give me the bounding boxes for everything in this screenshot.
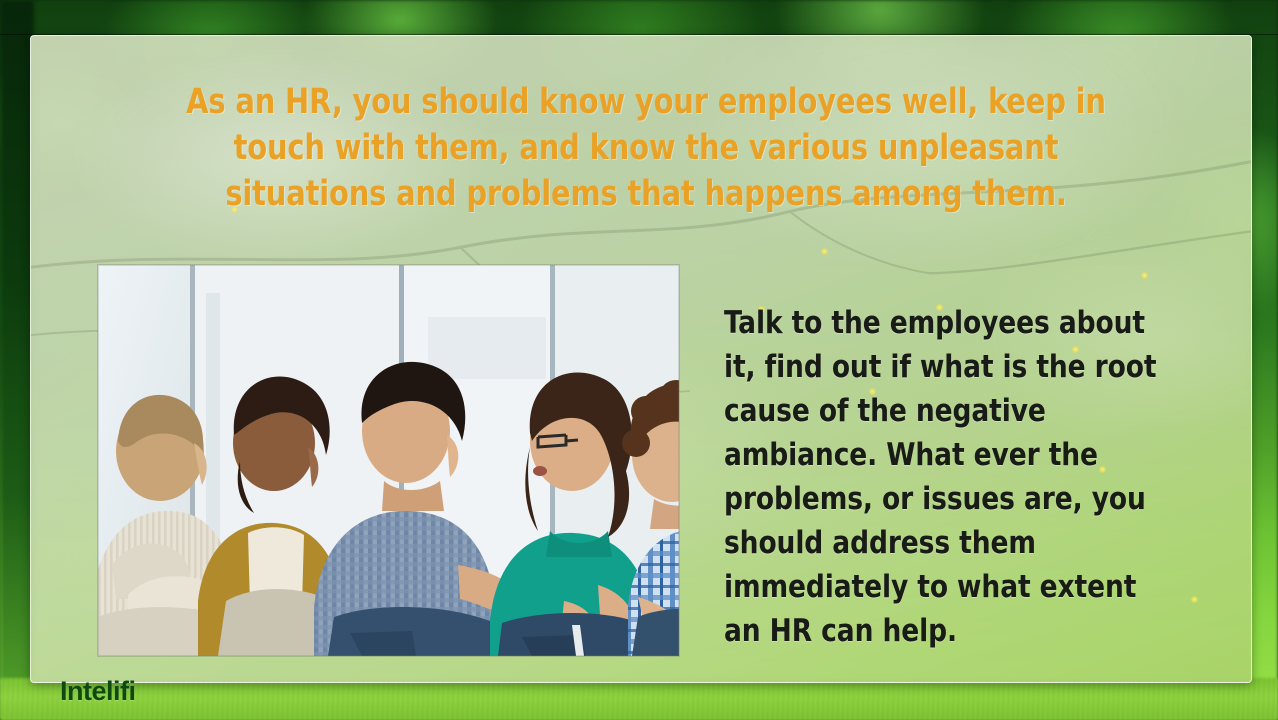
slide-stage: As an HR, you should know your employees…: [0, 0, 1278, 720]
body-paragraph: Talk to the employees about it, find out…: [724, 301, 1171, 653]
page-title: As an HR, you should know your employees…: [154, 79, 1138, 217]
group-discussion-photo: [98, 265, 679, 656]
background-dark-left-edge: [0, 0, 34, 690]
intelifi-logo[interactable]: Intelifi: [60, 676, 136, 707]
content-panel: As an HR, you should know your employees…: [30, 35, 1252, 683]
background-grass-strip: [0, 678, 1278, 720]
